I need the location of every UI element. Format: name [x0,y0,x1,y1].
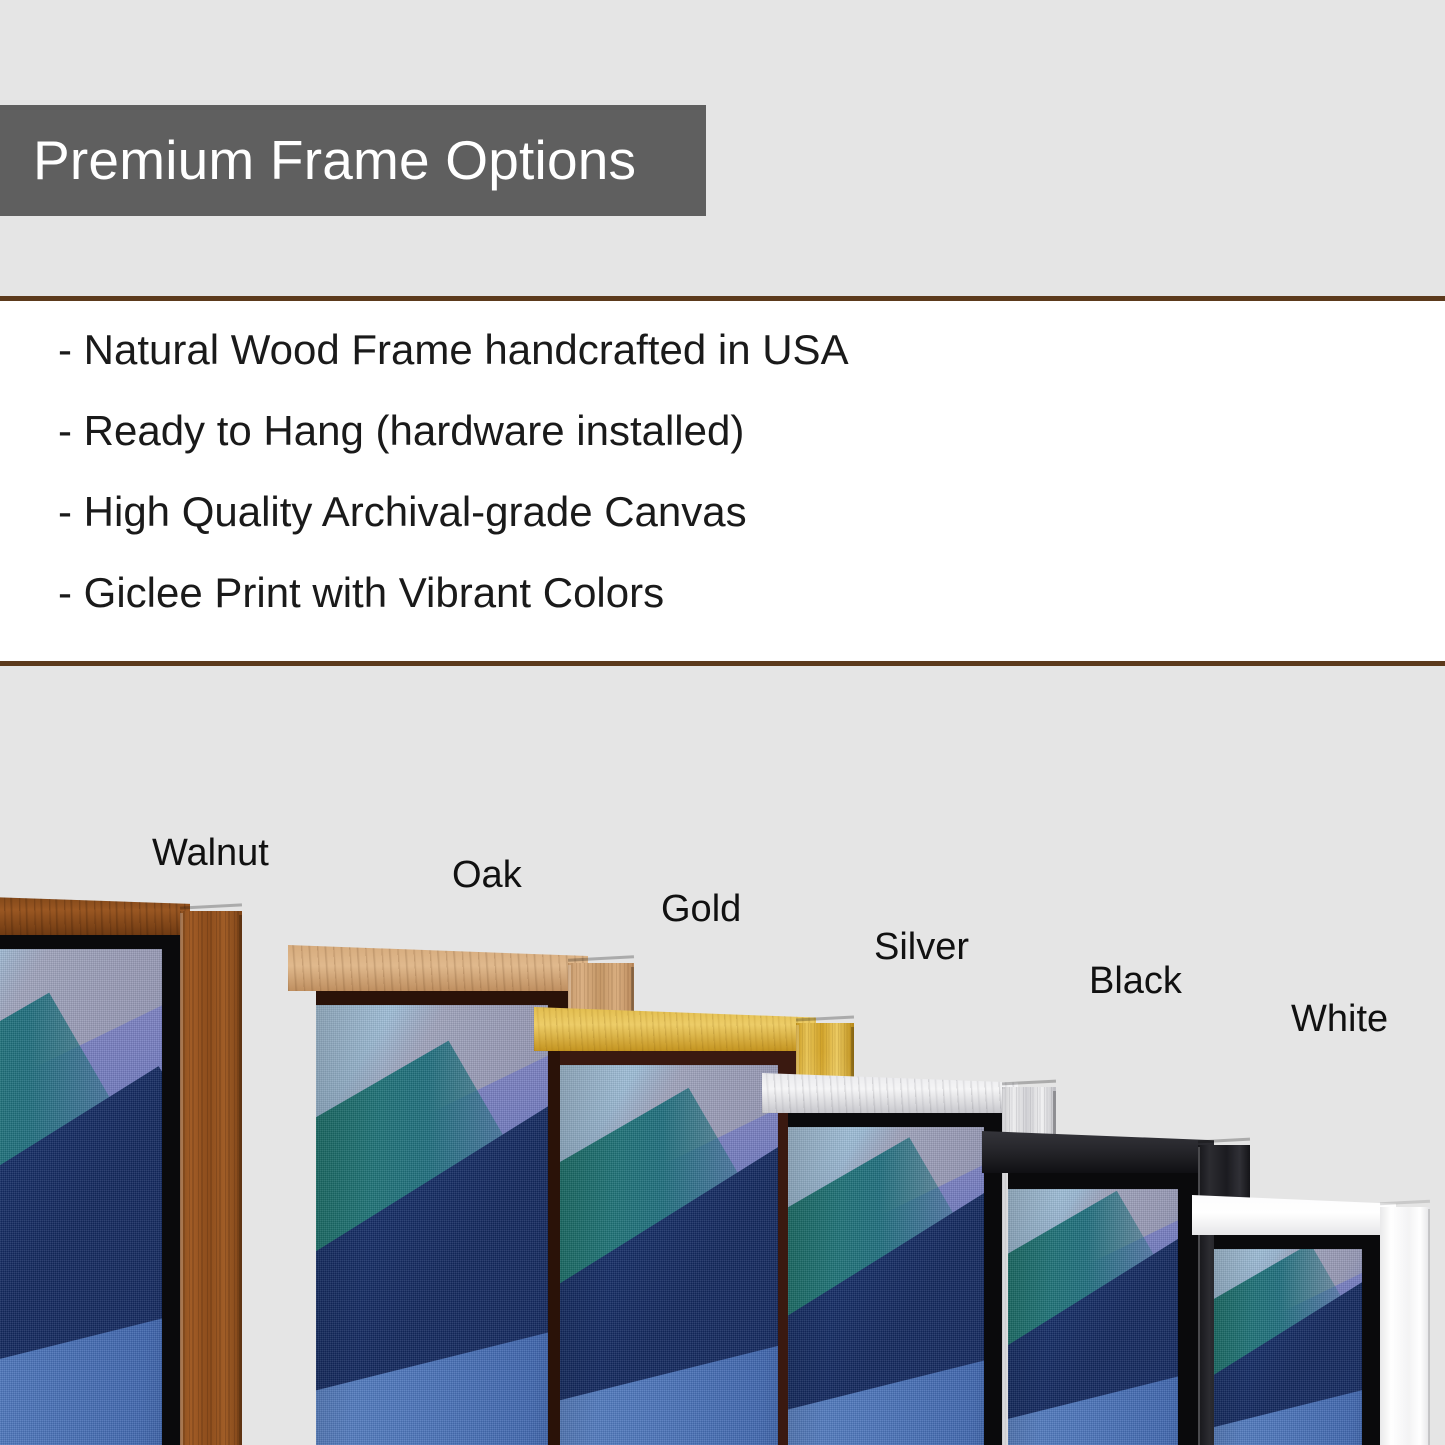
frame-label-black: Black [1089,962,1182,1000]
frame-mitre-white [1380,1200,1430,1206]
frame-label-white: White [1291,1000,1388,1038]
list-item: - High Quality Archival-grade Canvas [58,491,1425,533]
frame-label-oak: Oak [452,856,522,894]
frame-white [1192,1025,1445,1445]
list-item: - Ready to Hang (hardware installed) [58,410,1425,452]
frame-walnut [0,875,300,1445]
frame-label-gold: Gold [661,890,741,928]
frame-edge-shadow-walnut [239,915,242,1445]
header-zone: Premium Frame Options [0,0,1445,296]
frame-moulding-right-walnut [180,911,242,1445]
frame-moulding-top-silver [762,1073,1018,1113]
frame-edge-highlight-walnut [180,913,183,1445]
list-item: - Giclee Print with Vibrant Colors [58,572,1425,614]
frame-moulding-top-white [1192,1195,1396,1235]
title-banner: Premium Frame Options [0,105,706,216]
frame-label-walnut: Walnut [152,834,269,872]
frame-moulding-top-black [982,1131,1214,1173]
page-title: Premium Frame Options [0,133,636,188]
frame-moulding-top-walnut [0,893,190,935]
list-item: - Natural Wood Frame handcrafted in USA [58,329,1425,371]
features-panel: - Natural Wood Frame handcrafted in USA … [0,296,1445,666]
frame-moulding-right-white [1380,1207,1430,1445]
frame-edge-shadow-white [1428,1209,1430,1445]
features-list: - Natural Wood Frame handcrafted in USA … [58,329,1425,653]
frame-label-silver: Silver [874,928,969,966]
product-infographic: Premium Frame Options - Natural Wood Fra… [0,0,1445,1445]
frames-showcase: Walnut [0,666,1445,1445]
